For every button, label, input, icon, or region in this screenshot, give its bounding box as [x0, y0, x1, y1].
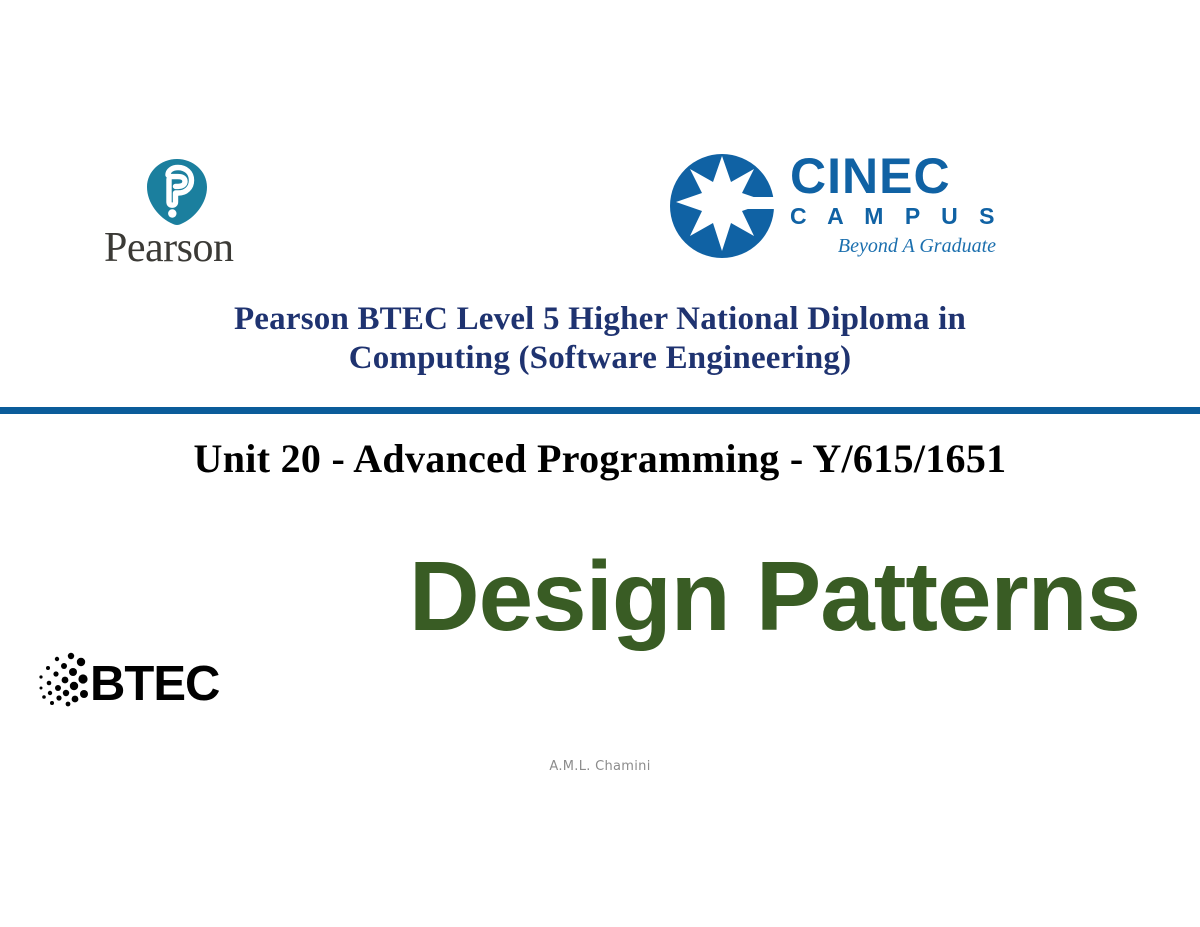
cinec-tagline: Beyond A Graduate	[790, 234, 1000, 258]
slide-heading: Design Patterns	[0, 540, 1180, 652]
pearson-interrobang-icon	[146, 158, 208, 226]
pearson-wordmark: Pearson	[104, 226, 254, 270]
program-title-line-1: Pearson BTEC Level 5 Higher National Dip…	[150, 300, 1050, 339]
unit-title: Unit 20 - Advanced Programming - Y/615/1…	[0, 433, 1200, 485]
cinec-name: CINEC	[790, 150, 1000, 202]
svg-text:BTEC: BTEC	[90, 657, 220, 710]
btec-dot-matrix-icon: BTEC	[38, 650, 228, 710]
cinec-subtitle: C A M P U S	[790, 202, 1000, 230]
author-name: A.M.L. Chamini	[0, 758, 1200, 776]
cinec-wordmark-group: CINEC C A M P U S Beyond A Graduate	[790, 150, 1000, 258]
cinec-star-circle-icon	[668, 152, 776, 260]
pearson-logo: Pearson	[104, 158, 254, 268]
cinec-logo: CINEC C A M P U S Beyond A Graduate	[668, 150, 998, 278]
title-slide: Pearson CINEC C A M P U S Bey	[0, 0, 1200, 927]
program-title-line-2: Computing (Software Engineering)	[150, 339, 1050, 378]
header-divider	[0, 407, 1200, 414]
program-title: Pearson BTEC Level 5 Higher National Dip…	[150, 300, 1050, 378]
btec-logo: BTEC	[38, 650, 228, 710]
